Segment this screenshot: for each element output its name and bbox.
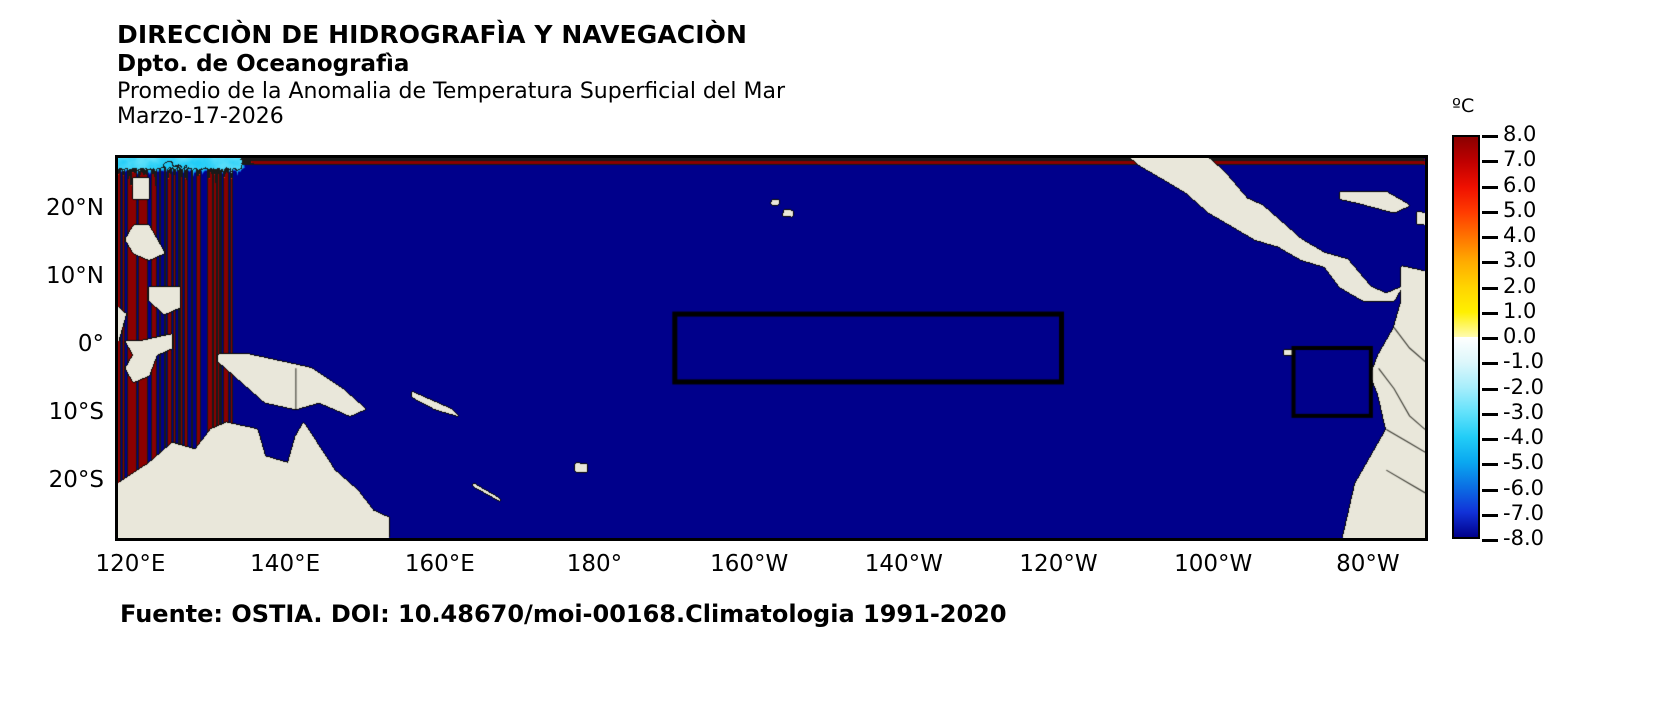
colorbar-tick-mark bbox=[1482, 413, 1498, 416]
department-title: Dpto. de Oceanografìa bbox=[117, 53, 785, 76]
sst-anomaly-raster bbox=[118, 158, 1425, 538]
colorbar-tick-mark bbox=[1482, 362, 1498, 365]
lon-tick-label: 160°E bbox=[380, 551, 500, 577]
source-footer: Fuente: OSTIA. DOI: 10.48670/moi-00168.C… bbox=[120, 600, 1007, 628]
colorbar-tick-mark bbox=[1482, 186, 1498, 189]
lat-tick-label: 10°N bbox=[0, 263, 104, 289]
colorbar-tick-mark bbox=[1482, 236, 1498, 239]
colorbar-tick-mark bbox=[1482, 514, 1498, 517]
sst-anomaly-map[interactable] bbox=[115, 155, 1428, 541]
colorbar-tick-label: -2.0 bbox=[1503, 375, 1544, 399]
colorbar-unit-label: ºC bbox=[1452, 95, 1474, 117]
colorbar-tick-mark bbox=[1482, 160, 1498, 163]
lon-tick-label: 100°W bbox=[1153, 551, 1273, 577]
title-block: DIRECCIÒN DE HIDROGRAFÌA Y NAVEGACIÒN Dp… bbox=[117, 22, 785, 128]
lat-tick-label: 0° bbox=[0, 331, 104, 357]
lon-tick-label: 180° bbox=[534, 551, 654, 577]
colorbar-tick-mark bbox=[1482, 438, 1498, 441]
lon-tick-label: 80°W bbox=[1308, 551, 1428, 577]
map-date: Marzo-17-2026 bbox=[117, 106, 785, 128]
colorbar-tick-label: 2.0 bbox=[1503, 274, 1536, 298]
lon-tick-label: 140°E bbox=[225, 551, 345, 577]
product-description: Promedio de la Anomalia de Temperatura S… bbox=[117, 81, 785, 103]
colorbar-tick-mark bbox=[1482, 312, 1498, 315]
lon-tick-label: 140°W bbox=[844, 551, 964, 577]
colorbar-tick-mark bbox=[1482, 135, 1498, 138]
colorbar-tick-label: -6.0 bbox=[1503, 476, 1544, 500]
lat-tick-label: 20°N bbox=[0, 195, 104, 221]
colorbar-tick-mark bbox=[1482, 463, 1498, 466]
colorbar-tick-label: -5.0 bbox=[1503, 450, 1544, 474]
lon-tick-label: 120°E bbox=[70, 551, 190, 577]
colorbar-tick-label: 4.0 bbox=[1503, 223, 1536, 247]
colorbar-gradient bbox=[1452, 135, 1480, 539]
colorbar-tick-mark bbox=[1482, 388, 1498, 391]
colorbar-tick-label: -4.0 bbox=[1503, 425, 1544, 449]
colorbar-tick-label: 5.0 bbox=[1503, 198, 1536, 222]
organization-title: DIRECCIÒN DE HIDROGRAFÌA Y NAVEGACIÒN bbox=[117, 22, 785, 47]
colorbar-tick-label: -7.0 bbox=[1503, 501, 1544, 525]
colorbar-tick-mark bbox=[1482, 539, 1498, 542]
lat-tick-label: 10°S bbox=[0, 399, 104, 425]
colorbar-tick-label: -3.0 bbox=[1503, 400, 1544, 424]
colorbar-tick-mark bbox=[1482, 287, 1498, 290]
colorbar-tick-mark bbox=[1482, 211, 1498, 214]
colorbar-tick-label: 6.0 bbox=[1503, 173, 1536, 197]
colorbar-tick-label: 1.0 bbox=[1503, 299, 1536, 323]
lat-tick-label: 20°S bbox=[0, 467, 104, 493]
colorbar-tick-label: 8.0 bbox=[1503, 122, 1536, 146]
colorbar-tick-mark bbox=[1482, 337, 1498, 340]
colorbar-tick-label: 0.0 bbox=[1503, 324, 1536, 348]
colorbar-tick-label: 3.0 bbox=[1503, 248, 1536, 272]
colorbar-tick-mark bbox=[1482, 261, 1498, 264]
colorbar-tick-label: -1.0 bbox=[1503, 349, 1544, 373]
lon-tick-label: 120°W bbox=[999, 551, 1119, 577]
colorbar-tick-mark bbox=[1482, 489, 1498, 492]
colorbar-tick-label: -8.0 bbox=[1503, 526, 1544, 550]
lon-tick-label: 160°W bbox=[689, 551, 809, 577]
colorbar-tick-label: 7.0 bbox=[1503, 147, 1536, 171]
